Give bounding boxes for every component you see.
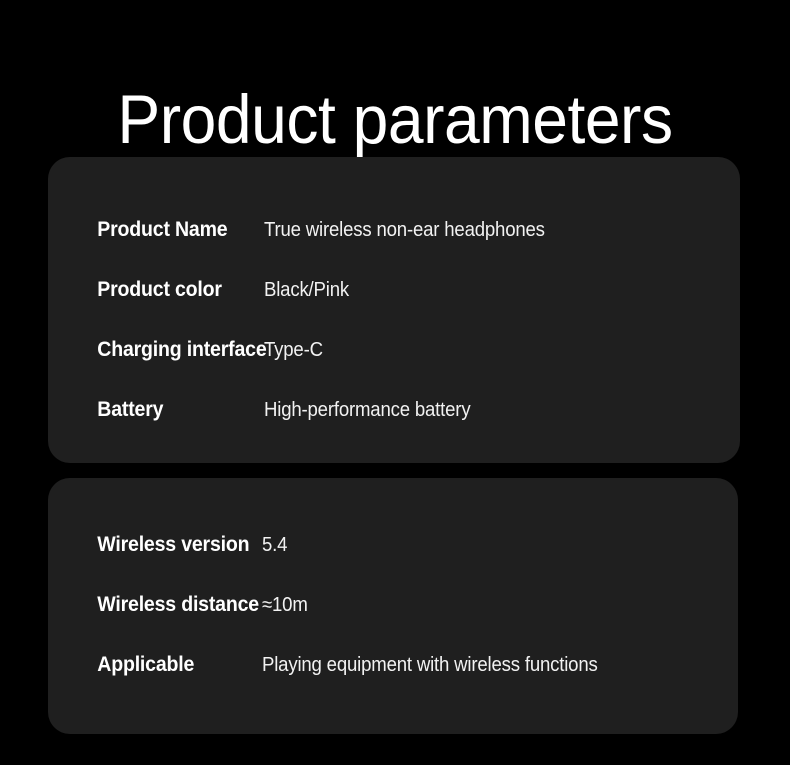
spec-value-applicable: Playing equipment with wireless function… <box>262 654 705 677</box>
spec-value-wireless-distance: ≈10m <box>262 594 705 617</box>
spec-row: Product color Black/Pink <box>48 260 740 320</box>
spec-row: Battery High-performance battery <box>48 380 740 440</box>
spec-value-battery: High-performance battery <box>264 399 707 422</box>
spec-value-product-name: True wireless non-ear headphones <box>264 219 707 242</box>
spec-row: Product Name True wireless non-ear headp… <box>48 200 740 260</box>
spec-row: Applicable Playing equipment with wirele… <box>48 635 738 695</box>
product-parameters-page: Product parameters Product Name True wir… <box>0 0 790 765</box>
spec-label-product-name: Product Name <box>48 218 249 242</box>
spec-row: Wireless distance ≈10m <box>48 575 738 635</box>
spec-row: Charging interface Type-C <box>48 320 740 380</box>
spec-value-product-color: Black/Pink <box>264 279 707 302</box>
spec-label-battery: Battery <box>48 398 249 422</box>
wireless-specs-card: Wireless version 5.4 Wireless distance ≈… <box>48 478 738 734</box>
spec-row: Wireless version 5.4 <box>48 515 738 575</box>
spec-label-applicable: Applicable <box>48 653 249 677</box>
page-title: Product parameters <box>28 75 763 165</box>
spec-value-wireless-version: 5.4 <box>262 534 705 557</box>
spec-label-wireless-version: Wireless version <box>48 533 249 557</box>
spec-label-charging-interface: Charging interface <box>48 338 249 362</box>
spec-label-wireless-distance: Wireless distance <box>48 593 249 617</box>
general-specs-card: Product Name True wireless non-ear headp… <box>48 157 740 463</box>
spec-label-product-color: Product color <box>48 278 249 302</box>
spec-value-charging-interface: Type-C <box>264 339 707 362</box>
